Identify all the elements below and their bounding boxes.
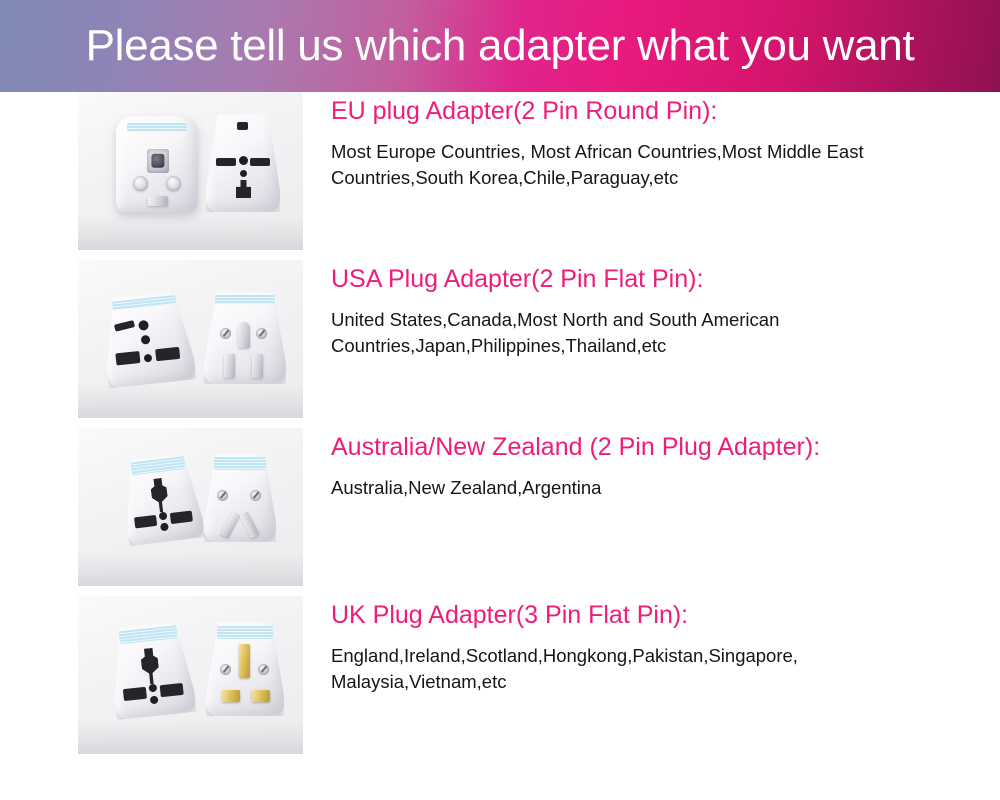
usa-earth-pin [238,322,250,348]
photo-floor-shadow [78,216,303,250]
screw-left [217,490,228,501]
screw-left [220,664,231,675]
uk-neutral-pin [252,690,270,702]
socket-top-mark [237,122,248,130]
adapter-title-australia: Australia/New Zealand (2 Pin Plug Adapte… [331,432,1000,462]
uk-earth-pin [239,644,250,678]
eu-bottom-tab [148,196,168,206]
adapter-description-australia: Australia,New Zealand,Argentina [331,475,931,501]
eu-earth-core [151,154,164,168]
uk-plug-socket-side [107,620,196,720]
uk-plug-pin-side [206,622,284,716]
usa-text-column: USA Plug Adapter(2 Pin Flat Pin): United… [303,260,1000,360]
eu-plug-pin-side [116,116,198,212]
eu-plug-adapter-photo [78,92,303,250]
uk-text-column: UK Plug Adapter(3 Pin Flat Pin): England… [303,596,1000,696]
screw-right [256,328,267,339]
socket-slot-left [216,158,236,166]
usa-flat-pin-left [224,354,235,378]
adapter-description-usa: United States,Canada,Most North and Sout… [331,307,931,360]
adapter-row-usa: USA Plug Adapter(2 Pin Flat Pin): United… [0,260,1000,418]
photo-floor-shadow [78,384,303,418]
eu-round-pin-left [133,176,148,191]
socket-slot-lower-right [155,347,180,361]
screw-left [220,328,231,339]
socket-hole-lower [240,170,247,177]
usa-plug-socket-side [100,290,197,389]
socket-slot-right [250,158,270,166]
product-description-page: Please tell us which adapter what you wa… [0,0,1000,800]
socket-hole-upper [239,156,248,165]
plug-label-strip [127,123,186,132]
usa-flat-pin-right [252,354,263,378]
australia-text-column: Australia/New Zealand (2 Pin Plug Adapte… [303,428,1000,501]
adapter-description-uk: England,Ireland,Scotland,Hongkong,Pakist… [331,643,931,696]
australia-plug-adapter-photo [78,428,303,586]
screw-right [250,490,261,501]
banner-title: Please tell us which adapter what you wa… [0,21,1000,71]
adapter-row-australia: Australia/New Zealand (2 Pin Plug Adapte… [0,428,1000,586]
socket-slot-right [160,683,184,697]
plug-label-strip [214,457,266,470]
uk-plug-adapter-photo [78,596,303,754]
adapter-description-eu: Most Europe Countries, Most African Coun… [331,139,931,192]
adapter-title-eu: EU plug Adapter(2 Pin Round Pin): [331,96,1000,126]
uk-live-pin [222,690,240,702]
screw-right [258,664,269,675]
eu-plug-socket-side [206,114,280,212]
plug-label-strip [217,626,273,639]
adapter-list: EU plug Adapter(2 Pin Round Pin): Most E… [0,92,1000,764]
eu-round-pin-right [166,176,181,191]
adapter-row-eu: EU plug Adapter(2 Pin Round Pin): Most E… [0,92,1000,250]
page-banner: Please tell us which adapter what you wa… [0,0,1000,92]
au-plug-pin-side [204,454,276,542]
adapter-title-uk: UK Plug Adapter(3 Pin Flat Pin): [331,600,1000,630]
adapter-title-usa: USA Plug Adapter(2 Pin Flat Pin): [331,264,1000,294]
plug-label-strip [215,295,274,304]
au-plug-socket-side [119,452,205,547]
usa-plug-adapter-photo [78,260,303,418]
usa-plug-pin-side [204,292,286,384]
eu-earth-clip [147,149,169,173]
socket-slot-lower-left [115,351,140,365]
photo-floor-shadow [78,720,303,754]
photo-floor-shadow [78,552,303,586]
socket-slot-left [123,687,147,701]
adapter-row-uk: UK Plug Adapter(3 Pin Flat Pin): England… [0,596,1000,754]
eu-text-column: EU plug Adapter(2 Pin Round Pin): Most E… [303,92,1000,192]
